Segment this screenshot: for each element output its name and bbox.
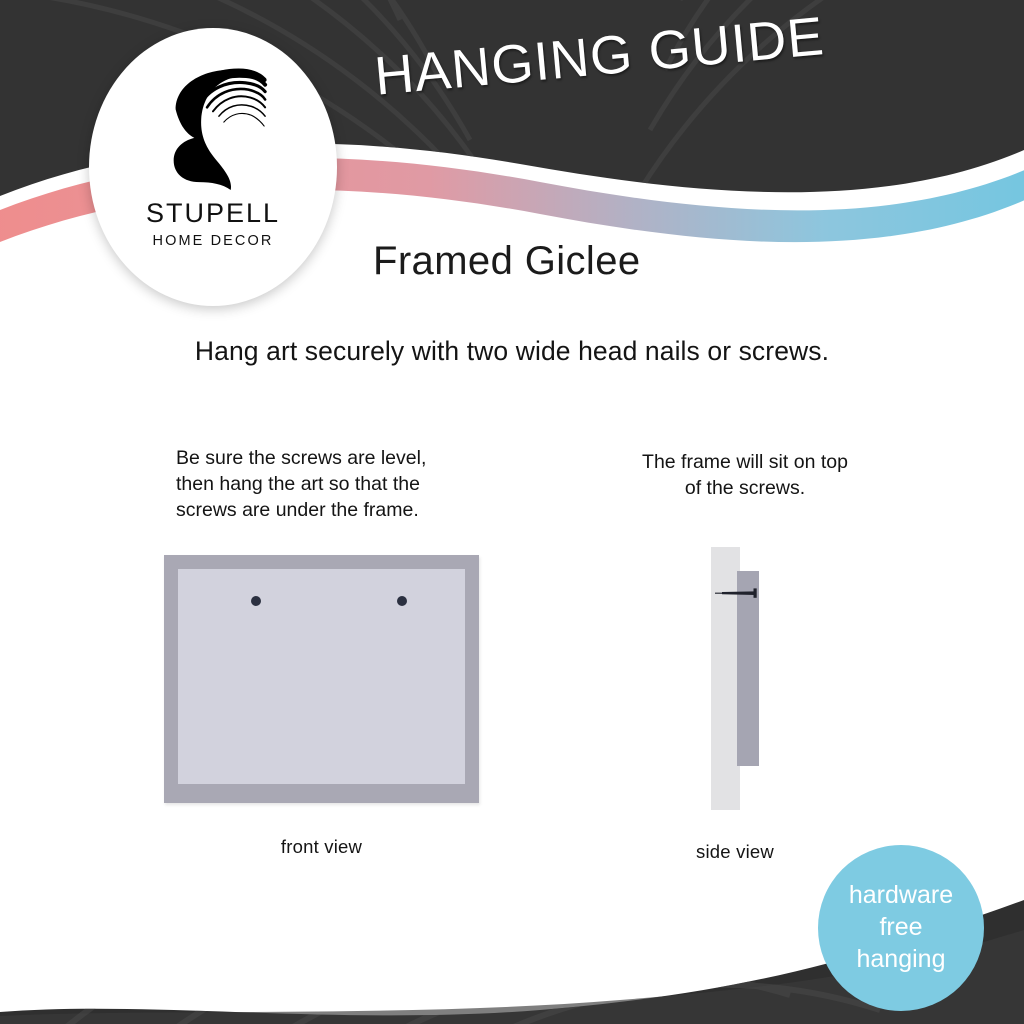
front-view-frame-diagram bbox=[164, 555, 479, 803]
front-view-caption-line-1: Be sure the screws are level, bbox=[176, 446, 476, 472]
screw-dot-right-icon bbox=[397, 596, 407, 606]
badge-line-1: hardware bbox=[849, 880, 953, 912]
logo-wordmark: STUPELL bbox=[146, 200, 280, 227]
front-view-caption: Be sure the screws are level, then hang … bbox=[176, 446, 476, 524]
badge-line-3: hanging bbox=[857, 944, 946, 976]
logo-subwordmark: HOME DECOR bbox=[153, 234, 274, 249]
front-view-label: front view bbox=[164, 836, 479, 858]
stupell-logo-badge: STUPELL HOME DECOR bbox=[89, 28, 337, 306]
side-view-caption: The frame will sit on top of the screws. bbox=[600, 450, 890, 502]
product-type-label: Framed Giclee bbox=[373, 239, 641, 284]
side-view-caption-line-1: The frame will sit on top bbox=[600, 450, 890, 476]
side-view-frame-strip bbox=[737, 571, 759, 766]
hanging-guide-page: STUPELL HOME DECOR HANGING GUIDE Framed … bbox=[0, 0, 1024, 1024]
hardware-free-hanging-badge: hardware free hanging bbox=[818, 845, 984, 1011]
main-instruction-text: Hang art securely with two wide head nai… bbox=[0, 336, 1024, 367]
front-view-caption-line-3: screws are under the frame. bbox=[176, 498, 476, 524]
side-view-label: side view bbox=[670, 841, 800, 863]
stupell-swoosh-icon bbox=[154, 62, 272, 194]
front-view-caption-line-2: then hang the art so that the bbox=[176, 472, 476, 498]
screw-dot-left-icon bbox=[251, 596, 261, 606]
side-view-frame-diagram bbox=[700, 545, 830, 815]
side-view-caption-line-2: of the screws. bbox=[600, 476, 890, 502]
front-view-frame-mat bbox=[178, 569, 465, 784]
badge-line-2: free bbox=[879, 912, 922, 944]
page-title: HANGING GUIDE bbox=[372, 0, 895, 108]
nail-icon bbox=[714, 587, 760, 599]
